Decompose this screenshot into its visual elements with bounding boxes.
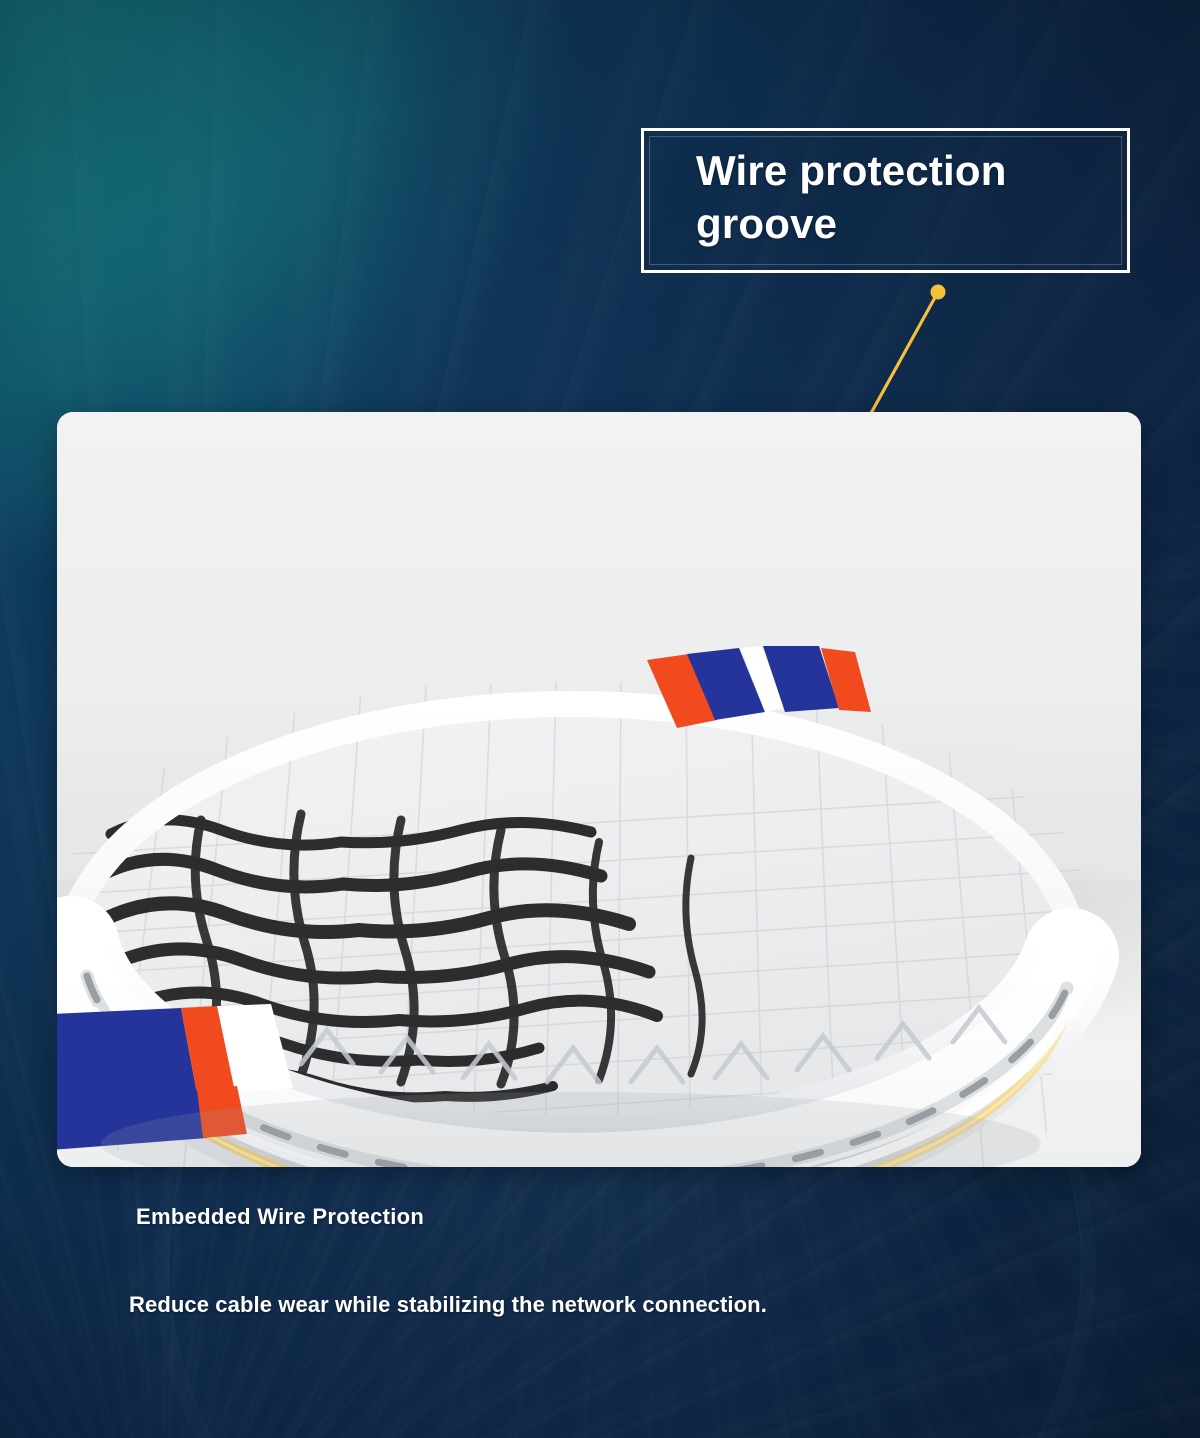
product-feature-banner: Wire protection groove: [0, 0, 1200, 1438]
callout-box: Wire protection groove: [641, 128, 1130, 273]
feature-subtitle: Reduce cable wear while stabilizing the …: [129, 1292, 767, 1318]
racket-illustration: [57, 644, 1141, 1167]
product-photo-card: [57, 412, 1141, 1167]
feature-title: Embedded Wire Protection: [136, 1204, 424, 1230]
callout-label: Wire protection groove: [696, 145, 1113, 250]
